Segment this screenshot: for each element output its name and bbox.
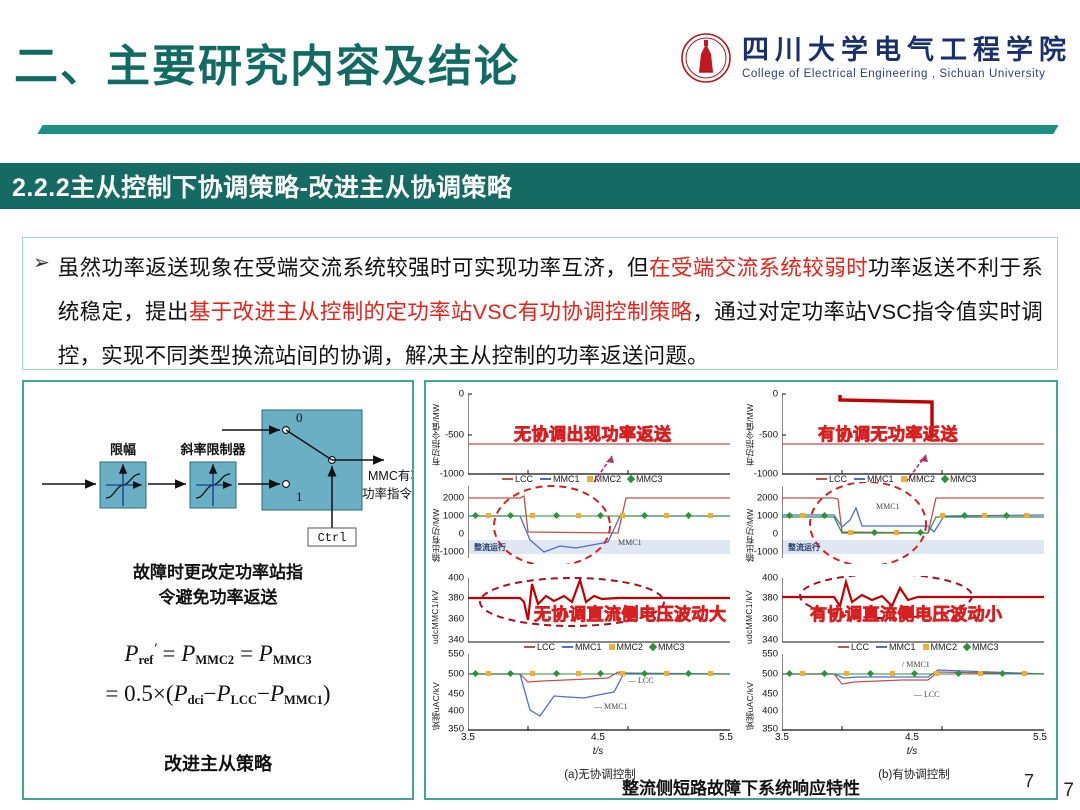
legend-b-uac: LCC MMC1 MMC2 MMC3 [838, 642, 999, 652]
legend-item-mmc1: MMC1 [876, 642, 916, 652]
right-charts-panel: 有功指令值/MW 输出有功/MW udcMMC1/kV 受端uAC/kV 0 -… [424, 380, 1058, 800]
ytick-group-b-uac: 550 500 450 400 350 [742, 650, 782, 736]
diagram-caption-top: 故障时更改定功率站指 令避免功率返送 [24, 560, 412, 610]
xtick: 4.5 [905, 732, 919, 743]
curve-label-mmc1-b: MMC1 [876, 502, 900, 511]
mode-band-label-b: 整流运行 [788, 542, 820, 553]
section-header-bar: 2.2.2主从控制下协调策略-改进主从协调策略 [0, 163, 1080, 209]
chart-column-with-coordination: 有功指令值/MW 输出有功/MW udcMMC1/kV 受端uAC/kV 0 -… [742, 386, 1054, 798]
legend-item-mmc2: MMC2 [587, 474, 622, 484]
ytick: 340 [762, 635, 778, 646]
subchart-a-power: 2000 1000 0 -1000 [468, 482, 730, 564]
page-title: 二、主要研究内容及结论 [14, 30, 520, 94]
legend-a-power: LCC MMC1 MMC2 MMC3 [502, 474, 663, 484]
ytick: 2000 [757, 493, 778, 504]
xtick: 5.5 [719, 732, 733, 743]
subchart-b-uac: 550 500 450 400 350 [782, 650, 1044, 736]
ytick: -500 [445, 430, 464, 441]
subchart-b-command: 0 -500 -1000 有协调无功率返送 [782, 392, 1044, 476]
bullet-paragraph: 虽然功率返送现象在受端交流系统较强时可实现功率互济，但在受端交流系统较弱时功率返… [58, 246, 1043, 378]
logo-chinese-name: 四川大学电气工程学院 [742, 36, 1072, 64]
legend-item-mmc1: MMC1 [562, 642, 602, 652]
formula-line-1: Pref′ = PMMC2 = PMMC3 [24, 632, 412, 677]
subchart-a-udc: 400 380 360 340 无协调直流侧电压波动大 [468, 576, 730, 646]
ytick: 450 [762, 689, 778, 700]
legend-item-mmc2: MMC2 [609, 642, 644, 652]
ytick-group-b-command: 0 -500 -1000 [742, 392, 782, 476]
page-number: 7 [1063, 780, 1074, 802]
ytick: 0 [773, 389, 778, 400]
legend-item-mmc1: MMC1 [854, 474, 894, 484]
legend-item-mmc2: MMC2 [923, 642, 958, 652]
block-label-rate-limiter: 斜率限制器 [179, 442, 246, 457]
curve-label-lcc-b: — LCC [914, 690, 940, 699]
bullet-row: ➢ 虽然功率返送现象在受端交流系统较强时可实现功率互济，但在受端交流系统较弱时功… [33, 246, 1043, 378]
legend-label: LCC [829, 474, 847, 484]
annotation-b-top: 有协调无功率返送 [818, 420, 958, 445]
xaxis-label-b: t/s [907, 746, 918, 757]
xaxis-label-a: t/s [593, 746, 604, 757]
diagram-caption-top-line2: 令避免功率返送 [24, 585, 412, 610]
xtick: 4.5 [591, 732, 605, 743]
legend-label: MMC3 [658, 642, 685, 652]
logo-text: 四川大学电气工程学院 College of Electrical Enginee… [742, 36, 1072, 79]
control-block-diagram: 限幅 斜率限制器 0 1 Ctrl MMC有功 功率指令值 [24, 388, 412, 548]
xtick: 5.5 [1033, 732, 1047, 743]
legend-item-mmc3: MMC3 [942, 474, 977, 484]
diagram-caption-bottom: 改进主从策略 [24, 750, 412, 776]
content-box: ➢ 虽然功率返送现象在受端交流系统较强时可实现功率互济，但在受端交流系统较弱时功… [22, 237, 1058, 370]
ytick: 0 [773, 529, 778, 540]
curve-label-lcc-a: — LCC [628, 676, 654, 685]
ytick: 380 [762, 593, 778, 604]
legend-label: LCC [515, 474, 533, 484]
legend-label: MMC1 [553, 474, 580, 484]
ytick: 450 [448, 689, 464, 700]
legend-label: MMC3 [636, 474, 663, 484]
ytick: -1000 [440, 547, 464, 558]
ytick: 500 [762, 669, 778, 680]
legend-item-lcc: LCC [524, 642, 555, 652]
ytick: 2000 [443, 493, 464, 504]
divider-accent-bar [37, 125, 1058, 134]
ytick: -1000 [440, 469, 464, 480]
ytick: 1000 [443, 511, 464, 522]
ytick-group-b-power: 2000 1000 0 -1000 [742, 482, 782, 564]
ytick: 500 [448, 669, 464, 680]
legend-label: MMC1 [889, 642, 916, 652]
legend-item-mmc3: MMC3 [628, 474, 663, 484]
legend-label: MMC1 [575, 642, 602, 652]
formula-line-2: = 0.5×(Pdci−PLCC−PMMC1) [24, 677, 412, 717]
ytick: 0 [459, 529, 464, 540]
legend-label: MMC2 [909, 474, 936, 484]
legend-label: MMC1 [867, 474, 894, 484]
curve-label-mmc1-a: MMC1 [618, 538, 642, 547]
curve-label-mmc1-uac-a: — MMC1 [594, 702, 628, 711]
legend-a-uac: LCC MMC1 MMC2 MMC3 [524, 642, 685, 652]
switch-port-0-label: 0 [296, 410, 303, 425]
subchart-b-udc: 400 380 360 340 有协调直流侧电压波动小 [782, 576, 1044, 646]
ytick: 380 [448, 593, 464, 604]
bullet-part-3-highlight: 基于改进主从控制的定功率站VSC有功协调控制策略 [189, 300, 693, 324]
header-divider [0, 122, 1080, 136]
legend-label: MMC2 [595, 474, 622, 484]
ytick: -500 [759, 430, 778, 441]
ytick: 400 [448, 706, 464, 717]
legend-label: LCC [851, 642, 869, 652]
legend-item-lcc: LCC [838, 642, 869, 652]
ytick: 360 [762, 614, 778, 625]
legend-item-mmc1: MMC1 [540, 474, 580, 484]
ytick-group-a-power: 2000 1000 0 -1000 [428, 482, 468, 564]
plot-a-power [468, 482, 730, 564]
bullet-part-1-highlight: 在受端交流系统较弱时 [649, 256, 868, 280]
legend-item-mmc3: MMC3 [650, 642, 685, 652]
ytick: 400 [762, 706, 778, 717]
block-label-saturation: 限幅 [110, 442, 136, 457]
bullet-arrow-icon: ➢ [33, 246, 58, 280]
annotation-a-bottom: 无协调直流侧电压波动大 [534, 600, 727, 625]
legend-item-lcc: LCC [502, 474, 533, 484]
ytick: 550 [762, 649, 778, 660]
annotation-a-top: 无协调出现功率返送 [514, 420, 672, 445]
ctrl-block-label: Ctrl [318, 531, 347, 545]
legend-label: MMC2 [931, 642, 958, 652]
legend-label: MMC3 [972, 642, 999, 652]
logo-english-name: College of Electrical Engineering , Sich… [742, 68, 1045, 80]
subchart-b-power: 2000 1000 0 -1000 [782, 482, 1044, 564]
ytick: 400 [762, 573, 778, 584]
ytick: 400 [448, 573, 464, 584]
university-logo: 四川大学电气工程学院 College of Electrical Enginee… [680, 32, 1072, 84]
left-diagram-panel: 限幅 斜率限制器 0 1 Ctrl MMC有功 功率指令值 故障时更改定功率站指… [22, 380, 414, 800]
xtick: 3.5 [775, 732, 789, 743]
ytick: 360 [448, 614, 464, 625]
curve-label-mmc1-uac-b: / MMC1 [902, 660, 930, 669]
figure-caption: 整流侧短路故障下系统响应特性 [424, 774, 1058, 799]
legend-item-mmc3: MMC3 [964, 642, 999, 652]
legend-item-lcc: LCC [816, 474, 847, 484]
plot-a-uac [468, 650, 730, 736]
ytick: 340 [448, 635, 464, 646]
slide-header: 二、主要研究内容及结论 四川大学电气工程学院 College of Electr… [0, 0, 1080, 120]
sichuan-university-seal-icon [680, 32, 732, 84]
output-label-line1: MMC有功 [368, 469, 412, 483]
annotation-b-bottom: 有协调直流侧电压波动小 [810, 600, 1003, 625]
legend-b-power: LCC MMC1 MMC2 MMC3 [816, 474, 977, 484]
ytick: 1000 [757, 511, 778, 522]
ytick-group-a-udc: 400 380 360 340 [428, 576, 468, 646]
chart-column-no-coordination: 有功指令值/MW 输出有功/MW udcMMC1/kV 受端uAC/kV 0 -… [428, 386, 740, 798]
legend-label: LCC [537, 642, 555, 652]
legend-label: MMC2 [617, 642, 644, 652]
formula-block: Pref′ = PMMC2 = PMMC3 = 0.5×(Pdci−PLCC−P… [24, 632, 412, 717]
section-title: 2.2.2主从控制下协调策略-改进主从协调策略 [0, 168, 512, 204]
subchart-a-uac: 550 500 450 400 350 [468, 650, 730, 736]
ytick: -1000 [754, 547, 778, 558]
ytick: 0 [459, 389, 464, 400]
ytick-group-b-udc: 400 380 360 340 [742, 576, 782, 646]
output-label-line2: 功率指令值 [362, 486, 412, 501]
ytick: -1000 [754, 469, 778, 480]
diagram-caption-top-line1: 故障时更改定功率站指 [24, 560, 412, 585]
bullet-part-0: 虽然功率返送现象在受端交流系统较强时可实现功率互济，但 [58, 256, 649, 280]
ytick: 550 [448, 649, 464, 660]
legend-item-mmc2: MMC2 [901, 474, 936, 484]
subchart-a-command: 0 -500 -1000 无协调出现功率返送 [468, 392, 730, 476]
switch-port-1-label: 1 [296, 489, 303, 504]
mode-band-label-a: 整流运行 [474, 542, 506, 553]
ytick-group-a-command: 0 -500 -1000 [428, 392, 468, 476]
plot-b-power [782, 482, 1044, 564]
ytick-group-a-uac: 550 500 450 400 350 [428, 650, 468, 736]
xtick: 3.5 [461, 732, 475, 743]
legend-label: MMC3 [950, 474, 977, 484]
